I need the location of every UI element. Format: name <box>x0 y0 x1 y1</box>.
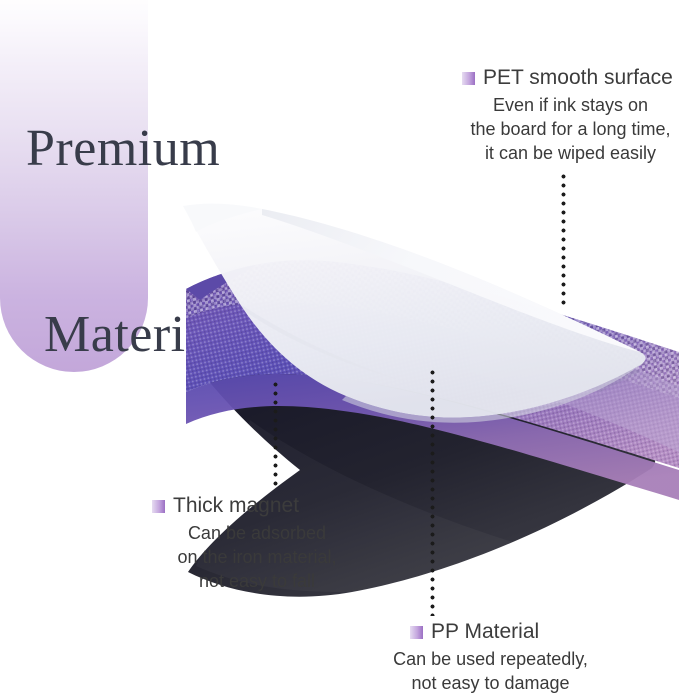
annotation-pet-heading: PET smooth surface <box>462 66 679 90</box>
annotation-pet-title: PET smooth surface <box>483 66 673 90</box>
annotation-pp-body: Can be used repeatedly, not easy to dama… <box>378 647 603 695</box>
page-title: Premium Material <box>26 0 326 490</box>
annotation-pp-heading: PP Material <box>378 620 603 644</box>
annotation-magnet-title: Thick magnet <box>173 494 299 518</box>
annotation-pp: PP Material Can be used repeatedly, not … <box>378 620 603 695</box>
title-line-2: Material <box>26 304 326 366</box>
leader-line-magnet <box>273 380 278 490</box>
annotation-pet-body: Even if ink stays on the board for a lon… <box>462 93 679 165</box>
bullet-square-icon <box>462 72 475 85</box>
annotation-magnet-body: Can be adsorbed on the iron material, no… <box>152 521 362 593</box>
annotation-magnet: Thick magnet Can be adsorbed on the iron… <box>152 494 362 593</box>
title-line-1: Premium <box>26 118 326 180</box>
leader-line-pp <box>430 368 435 616</box>
annotation-pet: PET smooth surface Even if ink stays on … <box>462 66 679 165</box>
bullet-square-icon <box>410 626 423 639</box>
annotation-pp-title: PP Material <box>431 620 539 644</box>
leader-line-pet <box>561 172 566 306</box>
product-feature-graphic: Premium Material <box>0 0 679 700</box>
bullet-square-icon <box>152 500 165 513</box>
annotation-magnet-heading: Thick magnet <box>152 494 362 518</box>
